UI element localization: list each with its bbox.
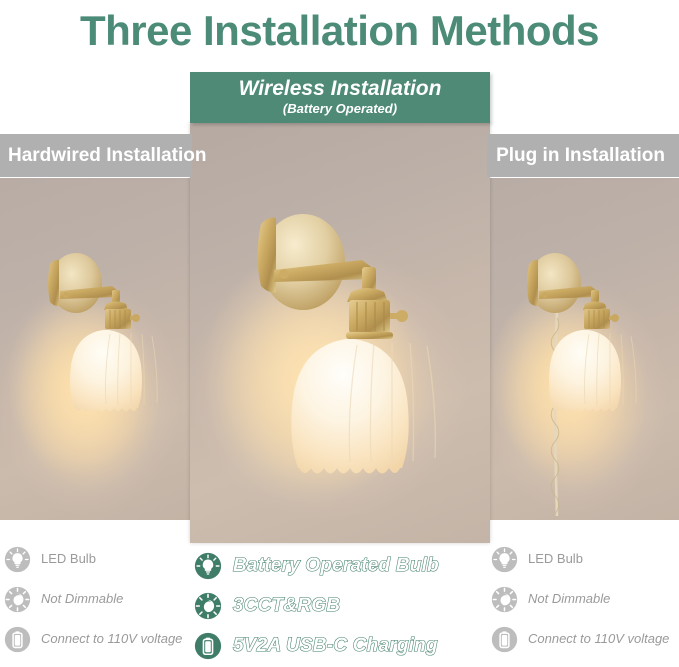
battery-icon (194, 632, 222, 660)
page-title: Three Installation Methods (0, 0, 679, 62)
wireless-photo (190, 122, 490, 543)
dimmer-icon (491, 586, 518, 613)
feature-text: Not Dimmable (528, 592, 610, 606)
feature-item: 5V2A USB-C Charging (194, 632, 490, 660)
bulb-icon (491, 546, 518, 573)
bulb-icon (194, 552, 222, 580)
battery-icon (491, 626, 518, 653)
hardwired-label-text: Hardwired Installation (8, 145, 206, 167)
feature-item: Connect to 110V voltage (491, 626, 679, 653)
plugin-photo (487, 178, 679, 520)
sconce-fixture-left (0, 178, 192, 520)
wireless-feature-list: Battery Operated Bulb 3CCT&RGB (194, 552, 490, 660)
feature-text: 3CCT&RGB (233, 595, 340, 616)
wireless-banner-subtitle: (Battery Operated) (283, 101, 397, 117)
wireless-banner-title: Wireless Installation (239, 78, 442, 100)
feature-text: Connect to 110V voltage (528, 632, 669, 646)
dimmer-icon (194, 592, 222, 620)
plugin-label-bar: Plug in Installation (487, 134, 679, 177)
sconce-fixture-center (190, 122, 490, 543)
dimmer-icon (4, 586, 31, 613)
feature-text: Battery Operated Bulb (233, 555, 439, 576)
feature-text: Not Dimmable (41, 592, 123, 606)
feature-text: LED Bulb (41, 552, 96, 566)
hardwired-feature-list: LED Bulb Not Dimmable (4, 546, 192, 653)
wireless-banner: Wireless Installation (Battery Operated) (190, 72, 490, 123)
feature-item: LED Bulb (491, 546, 679, 573)
feature-text: Connect to 110V voltage (41, 632, 182, 646)
plugin-label-text: Plug in Installation (496, 145, 665, 167)
feature-item: Battery Operated Bulb (194, 552, 490, 580)
battery-icon (4, 626, 31, 653)
feature-item: 3CCT&RGB (194, 592, 490, 620)
bulb-icon (4, 546, 31, 573)
hardwired-label-bar: Hardwired Installation (0, 134, 192, 177)
feature-item: Not Dimmable (491, 586, 679, 613)
plugin-feature-list: LED Bulb Not Dimmable (491, 546, 679, 653)
feature-item: Connect to 110V voltage (4, 626, 192, 653)
feature-text: LED Bulb (528, 552, 583, 566)
hardwired-photo (0, 178, 192, 520)
feature-text: 5V2A USB-C Charging (233, 635, 438, 656)
sconce-fixture-right (487, 178, 679, 520)
feature-item: Not Dimmable (4, 586, 192, 613)
feature-item: LED Bulb (4, 546, 192, 573)
product-infographic: Three Installation Methods (0, 0, 679, 667)
